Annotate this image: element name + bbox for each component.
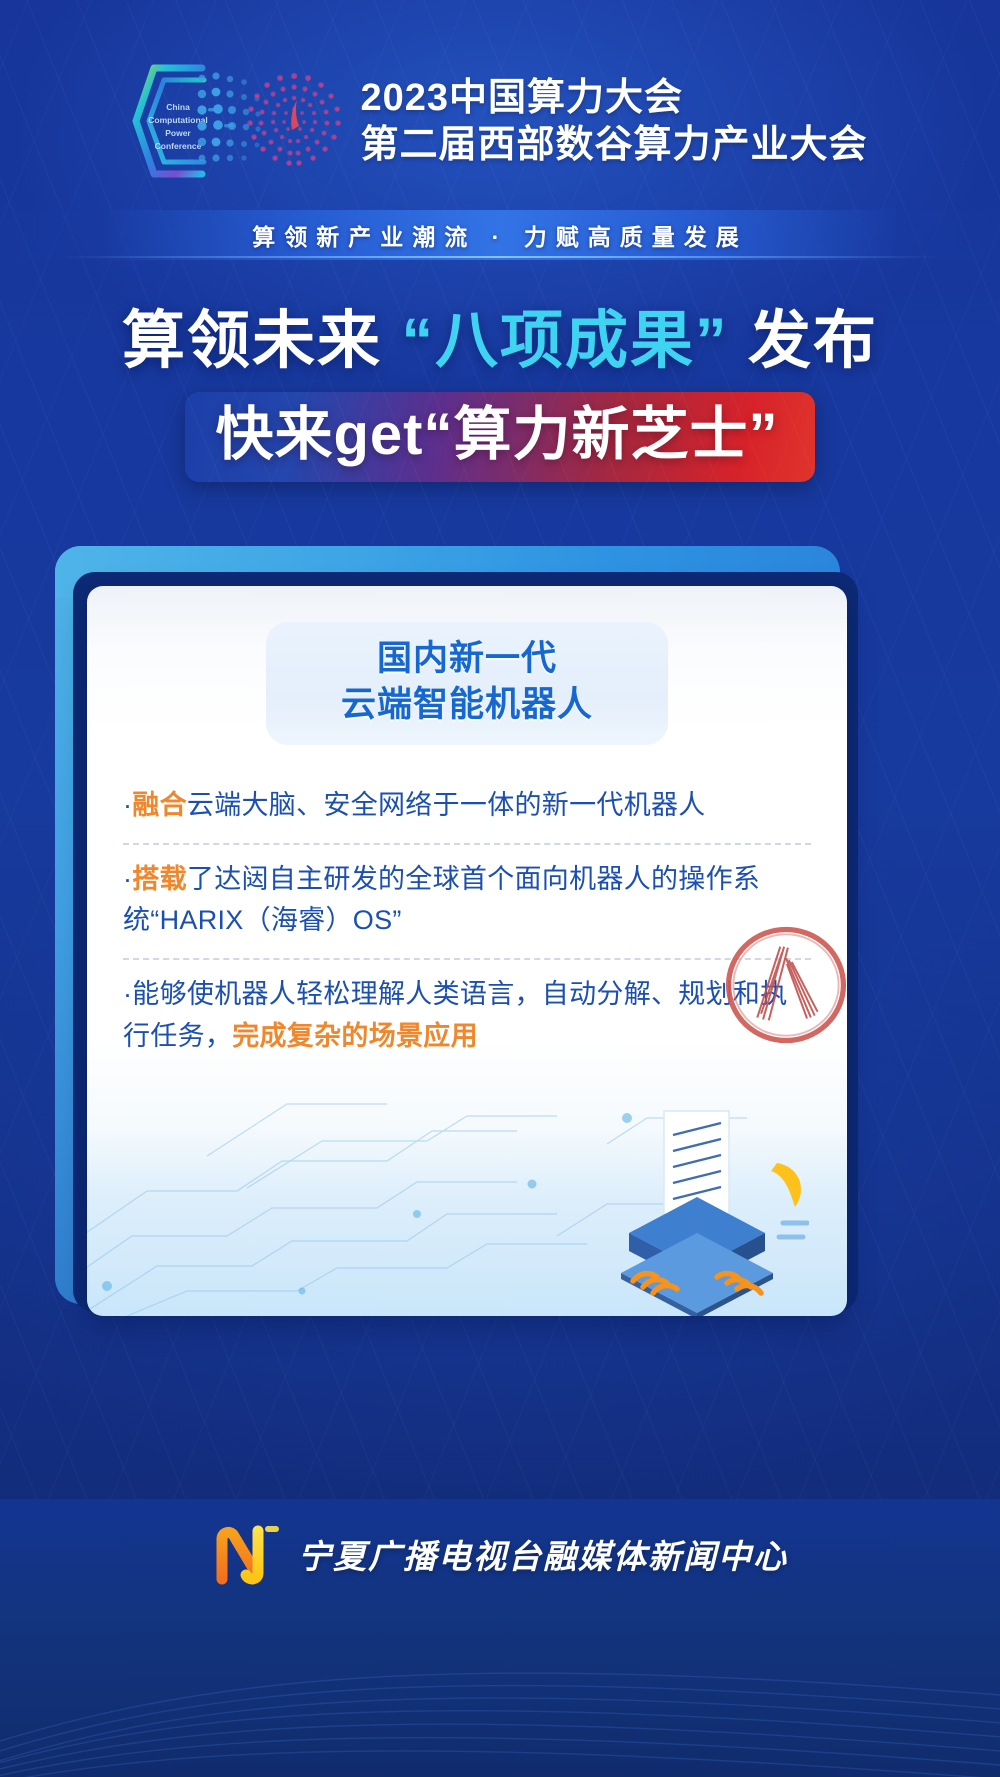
headline-line2: 快来get“算力新芝士” [215,403,778,468]
footer-wave-pattern [0,1577,1000,1777]
bullet-highlight-2: 搭载 [132,864,187,894]
card-bullet-list: ·融合云端大脑、安全网络于一体的新一代机器人 ·搭载了达闼自主研发的全球首个面向… [121,771,813,1074]
svg-text:Power: Power [166,128,192,138]
conference-title-line1: 2023中国算力大会 [360,76,867,121]
bullet-text-1: 云端大脑、安全网络于一体的新一代机器人 [187,790,706,820]
poster-footer: 宁夏广播电视台融媒体新闻中心 [0,1499,1000,1777]
bullet-item-1: ·融合云端大脑、安全网络于一体的新一代机器人 [121,771,813,843]
headline-banner: 快来get“算力新芝士” [185,392,814,482]
headline-line1-part1: 算领未来 [122,306,402,376]
bullet-item-3: ·能够使机器人轻松理解人类语言，自动分解、规划和执行任务，完成复杂的场景应用 [121,960,813,1074]
slogan-text: 算领新产业潮流 · 力赋高质量发展 [0,210,1000,260]
conference-title-line2: 第二届西部数谷算力产业大会 [360,123,867,168]
nx-media-logo-icon [212,1523,284,1585]
card-title-line1: 国内新一代 [266,636,668,682]
headline-line1: 算领未来 “八项成果” 发布 [0,304,1000,378]
isometric-server-illustration [569,1105,809,1316]
bullet-marker-2: · [123,864,132,894]
bullet-item-2: ·搭载了达闼自主研发的全球首个面向机器人的操作系统“HARIX（海睿）OS” [121,845,813,959]
footer-brand-text: 宁夏广播电视台融媒体新闻中心 [298,1530,788,1578]
headline-banner-wrapper: 快来get“算力新芝士” [0,392,1000,482]
peacock-fan-icon [244,64,344,174]
headline-line1-highlight: “八项成果” [402,306,729,376]
headline-line1-part2: 发布 [729,306,879,376]
content-card: 国内新一代 云端智能机器人 ·融合云端大脑、安全网络于一体的新一代机器人 ·搭载… [87,586,847,1316]
footer-brand-row: 宁夏广播电视台融媒体新闻中心 [0,1523,1000,1585]
poster-root: China Computational Power Conference [0,0,1000,1777]
bullet-marker-1: · [123,790,132,820]
headline-block: 算领未来 “八项成果” 发布 快来get“算力新芝士” [0,304,1000,482]
card-title-line2: 云端智能机器人 [266,682,668,728]
content-card-zone: 国内新一代 云端智能机器人 ·融合云端大脑、安全网络于一体的新一代机器人 ·搭载… [55,546,945,1356]
card-title-pill: 国内新一代 云端智能机器人 [266,622,668,744]
bullet-highlight-3: 完成复杂的场景应用 [232,1021,478,1051]
poster-header: China Computational Power Conference [0,0,1000,186]
slogan-bar-wrapper: 算领新产业潮流 · 力赋高质量发展 [0,210,1000,260]
conference-title: 2023中国算力大会 第二届西部数谷算力产业大会 [360,76,867,168]
bullet-text-2: 了达闼自主研发的全球首个面向机器人的操作系统“HARIX（海睿）OS” [123,864,760,936]
conference-logo: China Computational Power Conference [132,58,342,186]
svg-text:China: China [167,102,191,112]
card-illustration [87,1096,847,1316]
bullet-highlight-1: 融合 [132,790,187,820]
content-card-inner: 国内新一代 云端智能机器人 ·融合云端大脑、安全网络于一体的新一代机器人 ·搭载… [87,586,847,1316]
bullet-marker-3: · [123,979,132,1009]
